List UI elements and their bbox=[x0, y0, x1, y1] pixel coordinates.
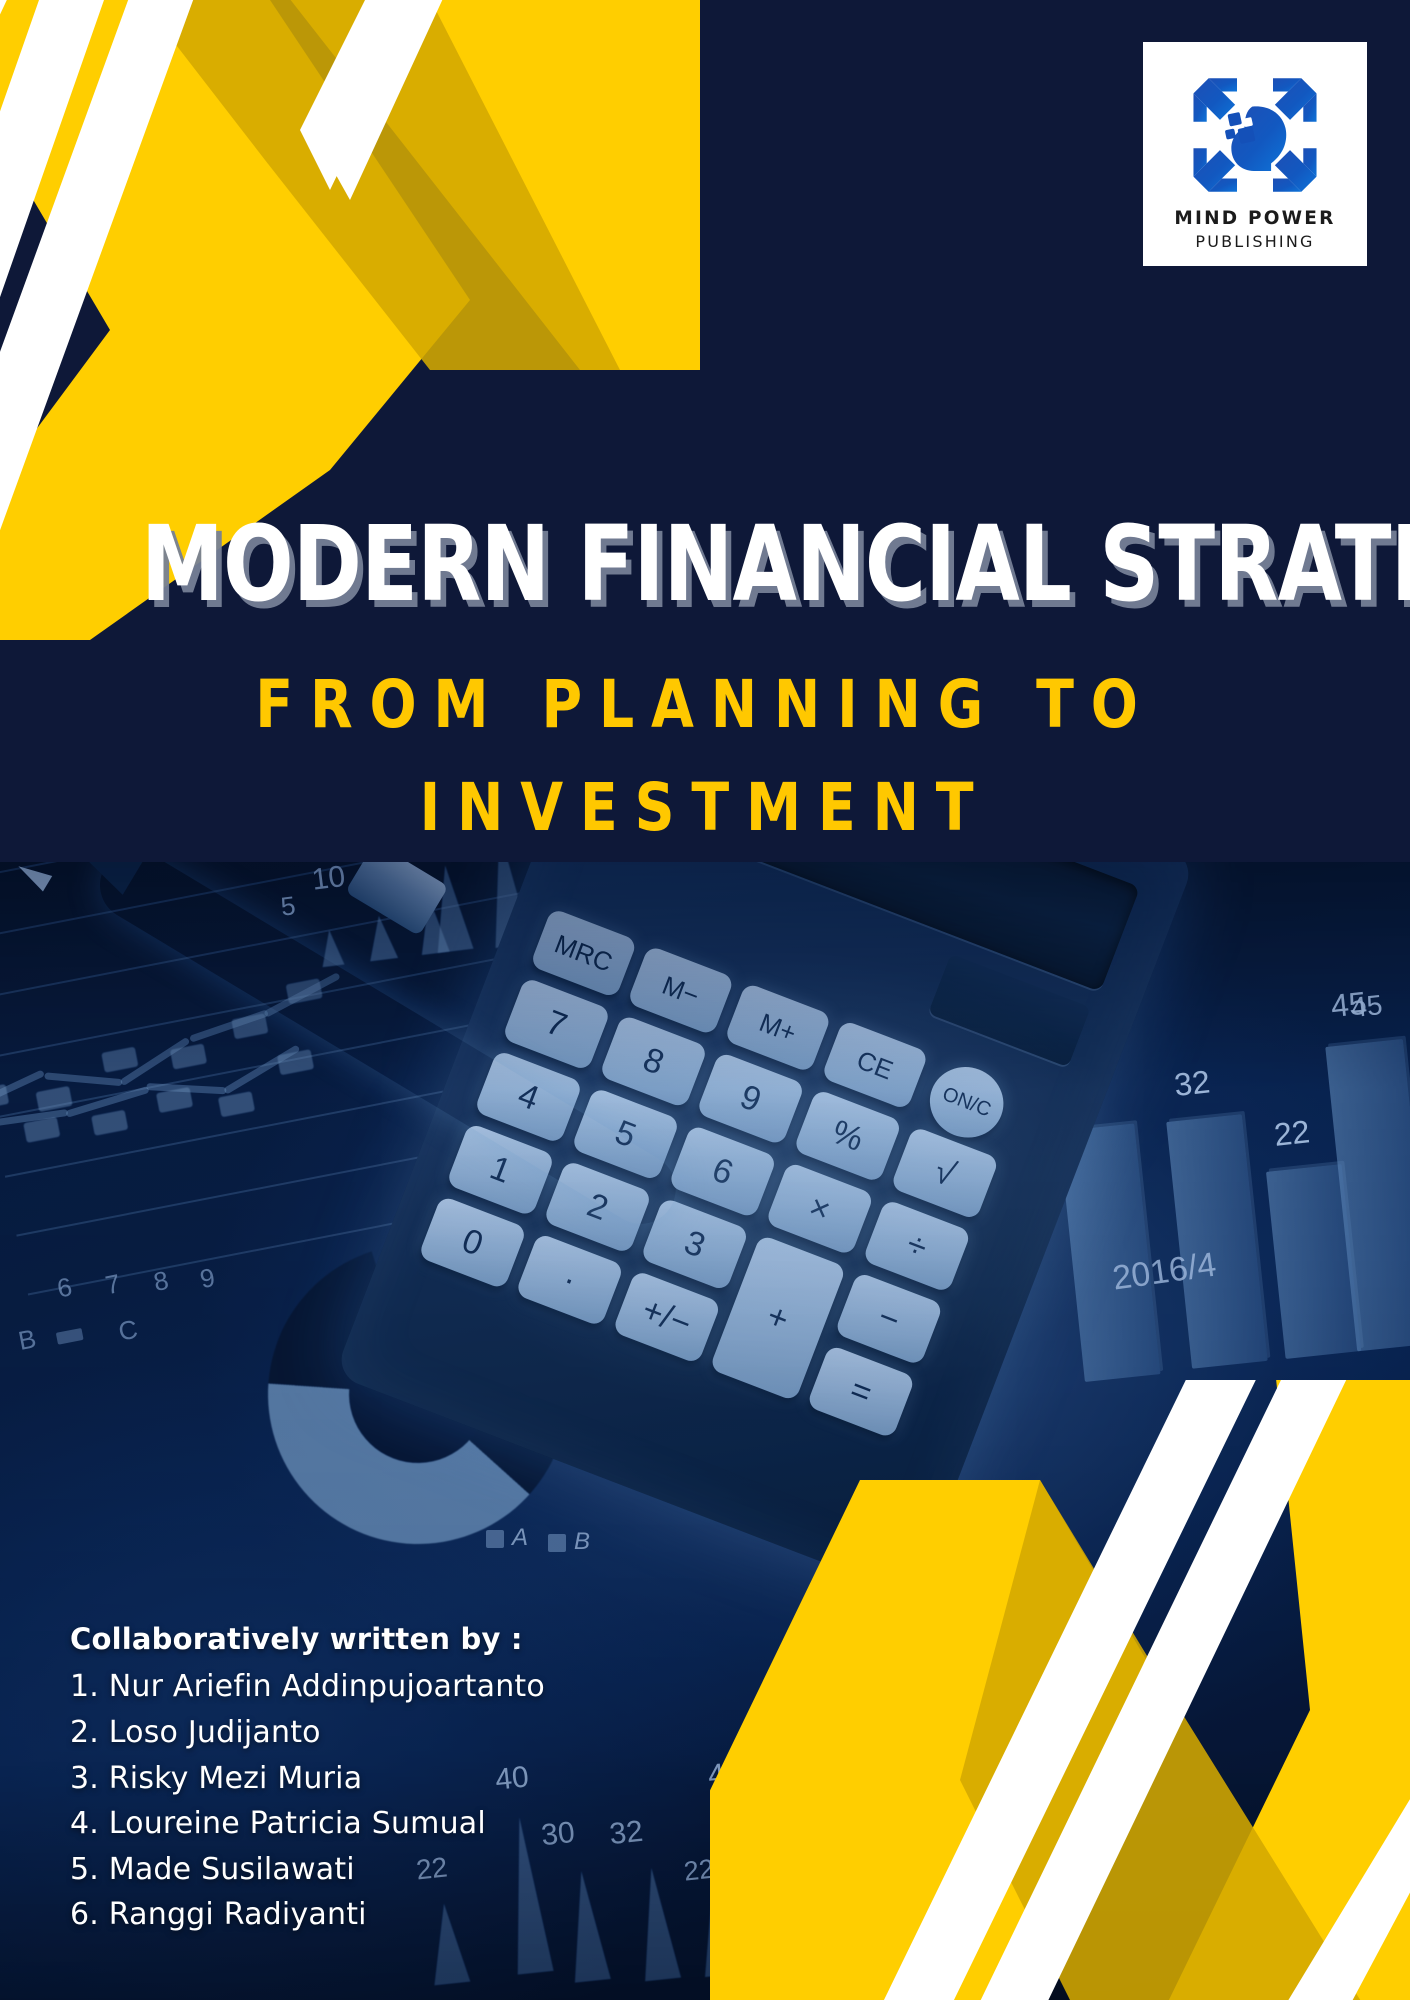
book-subtitle-line1: FROM PLANNING TO bbox=[113, 672, 1297, 738]
pen-grip-band bbox=[345, 862, 449, 936]
author-item: 2. Loso Judijanto bbox=[70, 1710, 710, 1756]
book-subtitle-line2: INVESTMENT bbox=[113, 775, 1297, 841]
bottom-right-decoration bbox=[710, 1380, 1410, 2000]
book-title: MODERN FINANCIAL STRATEGY: bbox=[141, 512, 1269, 616]
author-item: 3. Risky Mezi Muria bbox=[70, 1756, 710, 1802]
publisher-name: MIND POWER bbox=[1174, 208, 1335, 229]
author-item: 5. Made Susilawati bbox=[70, 1847, 710, 1893]
author-item: 4. Loureine Patricia Sumual bbox=[70, 1801, 710, 1847]
book-cover: 6 7 8 9 B C 5 10 10 22 30 32 22 35 bbox=[0, 0, 1410, 2000]
author-item: 6. Ranggi Radiyanti bbox=[70, 1892, 710, 1938]
mind-power-brain-network-logo-icon bbox=[1184, 68, 1326, 202]
pen-barrel bbox=[87, 862, 689, 1237]
authors-heading: Collaboratively written by : bbox=[70, 1622, 710, 1656]
author-item: 1. Nur Ariefin Addinpujoartanto bbox=[70, 1664, 710, 1710]
pen-nib bbox=[14, 862, 52, 891]
authors-block: Collaboratively written by : 1. Nur Arie… bbox=[70, 1622, 710, 1938]
publisher-logo: MIND POWER PUBLISHING bbox=[1143, 42, 1367, 266]
publisher-sub: PUBLISHING bbox=[1195, 232, 1314, 251]
